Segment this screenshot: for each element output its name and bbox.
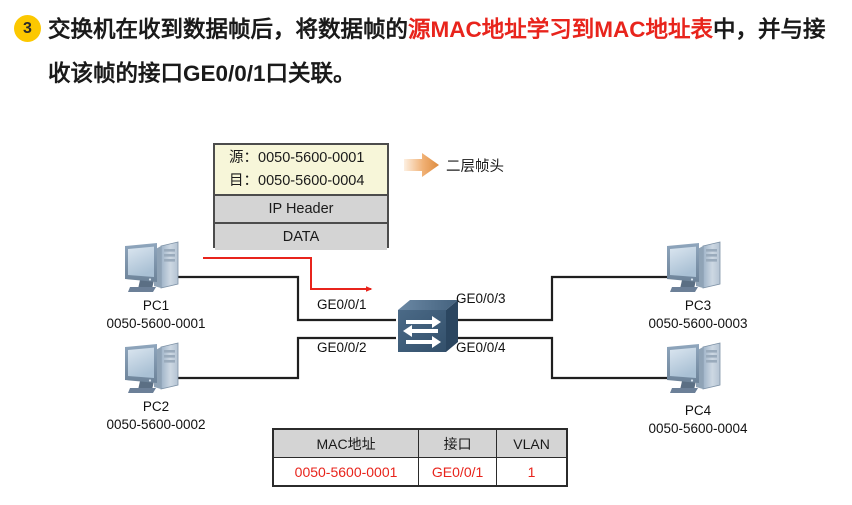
- pc1-mac: 0050-5600-0001: [60, 315, 252, 333]
- slide-canvas: 3 交换机在收到数据帧后，将数据帧的源MAC地址学习到MAC地址表中，并与接收该…: [0, 0, 852, 505]
- column-header-vlan: VLAN: [497, 429, 567, 458]
- pc2-label: PC2 0050-5600-0002: [60, 398, 252, 434]
- frame-dest-mac: 目：0050-5600-0004: [229, 170, 364, 193]
- cell-interface: GE0/0/1: [419, 458, 497, 487]
- frame-source-mac: 源：0050-5600-0001: [229, 147, 364, 170]
- pc4-icon: [662, 341, 734, 397]
- port-label-ge0-0-2: GE0/0/2: [317, 340, 367, 355]
- pc2-icon: [120, 341, 192, 397]
- ethernet-frame-diagram: 源：0050-5600-0001 目：0050-5600-0004 IP Hea…: [213, 143, 389, 248]
- pc4-name: PC4: [602, 402, 794, 420]
- pc2-name: PC2: [60, 398, 252, 416]
- table-header-row: MAC地址 接口 VLAN: [273, 429, 567, 458]
- pc4-label: PC4 0050-5600-0004: [602, 402, 794, 438]
- pc3-name: PC3: [602, 297, 794, 315]
- pc1-name: PC1: [60, 297, 252, 315]
- column-header-interface: 接口: [419, 429, 497, 458]
- pc2-mac: 0050-5600-0002: [60, 416, 252, 434]
- callout-arrow-label: 二层帧头: [446, 155, 504, 176]
- pc3-label: PC3 0050-5600-0003: [602, 297, 794, 333]
- switch-icon: [396, 298, 460, 356]
- cell-mac: 0050-5600-0001: [273, 458, 419, 487]
- callout-arrow-icon: [404, 152, 440, 178]
- column-header-mac: MAC地址: [273, 429, 419, 458]
- frame-ip-header: IP Header: [215, 194, 387, 222]
- port-label-ge0-0-3: GE0/0/3: [456, 291, 506, 306]
- pc3-mac: 0050-5600-0003: [602, 315, 794, 333]
- pc3-icon: [662, 240, 734, 296]
- port-label-ge0-0-1: GE0/0/1: [317, 297, 367, 312]
- pc1-icon: [120, 240, 192, 296]
- pc4-mac: 0050-5600-0004: [602, 420, 794, 438]
- frame-payload: DATA: [215, 222, 387, 250]
- port-label-ge0-0-4: GE0/0/4: [456, 340, 506, 355]
- pc1-label: PC1 0050-5600-0001: [60, 297, 252, 333]
- cell-vlan: 1: [497, 458, 567, 487]
- frame-l2-header: 源：0050-5600-0001 目：0050-5600-0004: [215, 145, 387, 194]
- mac-address-table: MAC地址 接口 VLAN 0050-5600-0001 GE0/0/1 1: [272, 428, 568, 487]
- table-row: 0050-5600-0001 GE0/0/1 1: [273, 458, 567, 487]
- frame-flow-arrow: [203, 258, 371, 289]
